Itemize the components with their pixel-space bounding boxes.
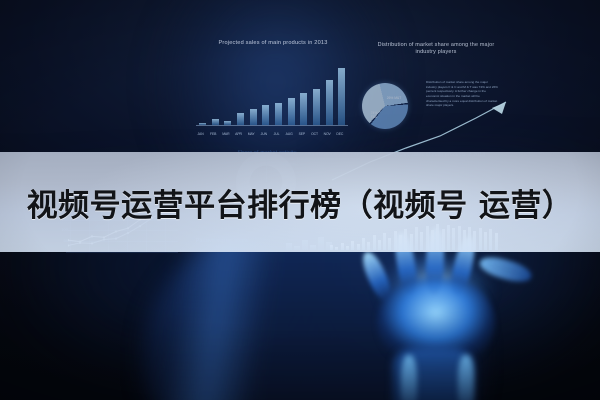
bar xyxy=(237,113,244,125)
bar xyxy=(212,119,219,125)
bar xyxy=(262,105,269,125)
pie-chart-title: Distribution of market share among the m… xyxy=(368,42,504,56)
bar xyxy=(300,93,307,125)
bar-category-label: SEP xyxy=(296,132,307,136)
bar xyxy=(224,121,231,125)
bar xyxy=(288,98,295,125)
bar-category-label: JAN xyxy=(195,132,206,136)
bar-category-label: MAY xyxy=(246,132,257,136)
banner-image: Projected sales of main products in 2013… xyxy=(0,0,600,400)
bar-category-label: JUL xyxy=(271,132,282,136)
bar-category-label: FEB xyxy=(208,132,219,136)
bar-chart-axis xyxy=(196,125,348,126)
bar xyxy=(250,109,257,125)
bar-category-label: OCT xyxy=(309,132,320,136)
bar xyxy=(199,123,206,125)
bar-category-label: AUG xyxy=(284,132,295,136)
bar-category-label: JUN xyxy=(258,132,269,136)
banner-title: 视频号运营平台排行榜（视频号 运营） xyxy=(0,152,600,252)
bar xyxy=(313,89,320,125)
bar-category-label: APR xyxy=(233,132,244,136)
projected-sales-bar-chart: JANFEBMARAPRMAYJUNJULAUGSEPOCTNOVDEC xyxy=(196,56,348,138)
bar-chart-title: Projected sales of main products in 2013 xyxy=(196,40,350,47)
bar-category-label: MAR xyxy=(220,132,231,136)
bar xyxy=(275,103,282,125)
